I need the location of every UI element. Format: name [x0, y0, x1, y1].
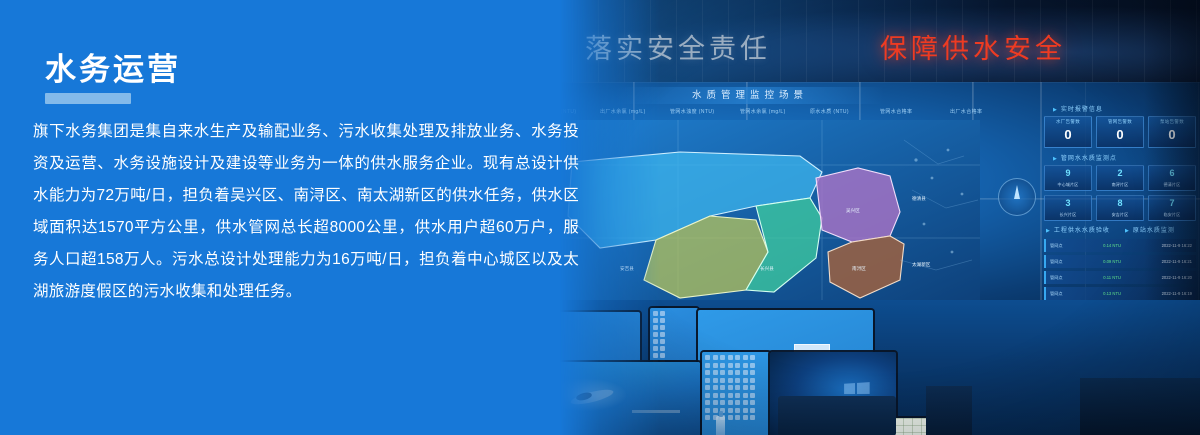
alarm-card: 水厂告警数 0: [1044, 116, 1092, 148]
map-region: [816, 168, 900, 242]
page-title: 水务运营: [45, 52, 181, 88]
monitor-icon-desktop: [702, 352, 770, 435]
wall-dashboard-title: 水质管理监控场景: [616, 87, 884, 104]
description-text: 旗下水务集团是集自来水生产及输配业务、污水收集处理及排放业务、水务投资及运营、水…: [33, 116, 579, 308]
alarm-card: 管网告警数 0: [1096, 116, 1144, 148]
video-wall: 水质管理监控场景 出厂水浊度 (NTU) 出厂水余氯 (mg/L) 管网水浊度 …: [520, 82, 1200, 314]
title-underline-rule: [45, 93, 131, 104]
banner-stage: 落实安全责任 保障供水安全 水质管理监控场景 出厂水浊度 (NTU) 出厂水余氯…: [0, 0, 1200, 435]
district-tile: 8安吉片区: [1096, 195, 1144, 221]
photo-right-shadow: [1144, 0, 1200, 300]
district-tile: 2南浔片区: [1096, 165, 1144, 191]
panel-section-title: 工程供水水质验收: [1046, 225, 1117, 234]
description-paragraph: 旗下水务集团是集自来水生产及输配业务、污水收集处理及排放业务、水务投资及运营、水…: [33, 116, 579, 308]
compass-icon: [998, 178, 1036, 216]
district-map: 安吉县 长兴县 吴兴区 南浔区 德清县 太湖新区: [560, 120, 980, 310]
map-region-label: 安吉县: [620, 265, 634, 272]
map-region-label: 德清县: [912, 195, 926, 202]
slogan-band: 落实安全责任 保障供水安全: [520, 0, 1200, 86]
map-region-label: 太湖新区: [912, 261, 931, 268]
slogan-left: 落实安全责任: [585, 27, 771, 66]
map-region-label: 南浔区: [852, 265, 866, 272]
slogan-right: 保障供水安全: [880, 27, 1066, 66]
district-tile: 3长兴片区: [1044, 195, 1092, 221]
operator-desks: [520, 300, 1200, 435]
left-text-panel: 水务运营 旗下水务集团是集自来水生产及输配业务、污水收集处理及排放业务、水务投资…: [0, 0, 600, 435]
control-room-photo: 落实安全责任 保障供水安全 水质管理监控场景 出厂水浊度 (NTU) 出厂水余氯…: [520, 0, 1200, 435]
district-tile: 9中心城片区: [1044, 165, 1092, 191]
map-region-label: 吴兴区: [846, 207, 860, 214]
map-region-label: 长兴县: [760, 265, 774, 272]
